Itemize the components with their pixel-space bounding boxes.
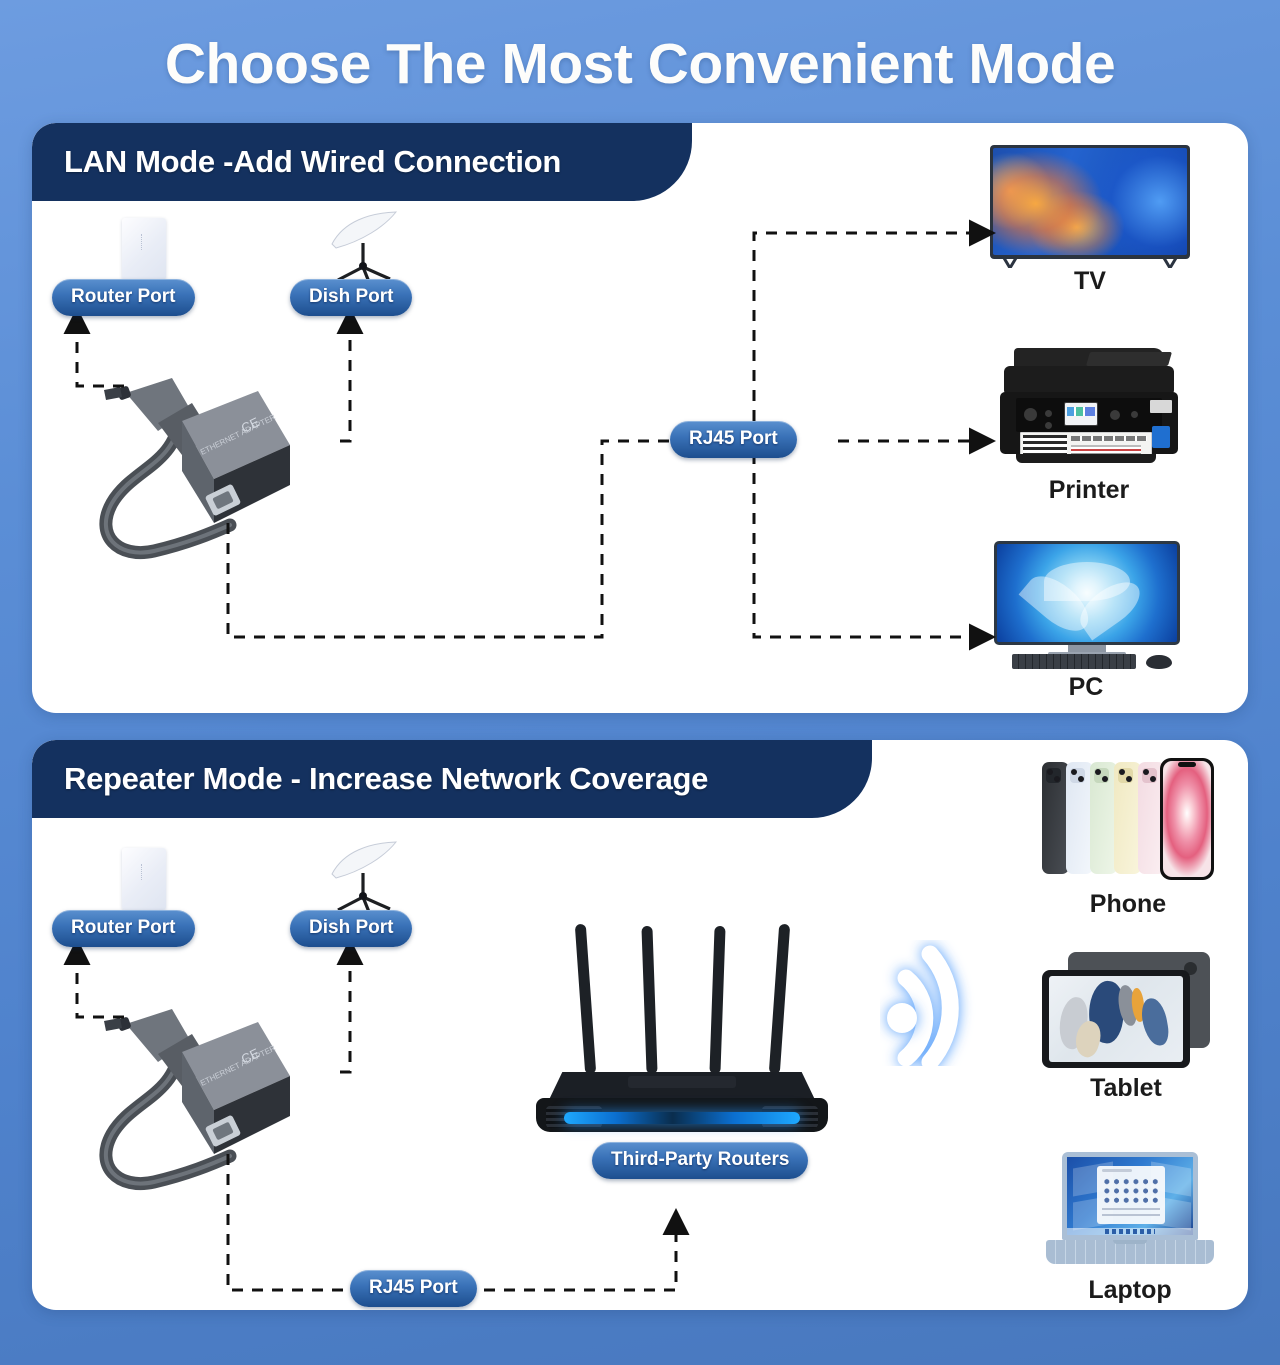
device-third-party-router: Third-Party Routers [532, 920, 832, 1140]
pill-router-port-lan[interactable]: Router Port [52, 279, 195, 316]
caption-phone: Phone [1028, 890, 1228, 919]
panel-lan-mode: LAN Mode -Add Wired Connection [32, 123, 1248, 713]
satellite-dish-icon [322, 211, 412, 283]
ethernet-adapter-icon: ETHERNET ADAPTER CE [62, 1004, 312, 1219]
pill-rj45-port-repeater[interactable]: RJ45 Port [350, 1270, 477, 1307]
printer-icon [1000, 348, 1178, 470]
laptop-icon [1040, 1152, 1220, 1274]
satellite-dish-icon [322, 841, 412, 913]
panel-repeater-mode: Repeater Mode - Increase Network Coverag… [32, 740, 1248, 1310]
device-phone: Phone [1042, 758, 1214, 884]
caption-tv: TV [990, 267, 1190, 296]
smartphone-icon [1042, 758, 1214, 884]
pill-router-port-repeater[interactable]: Router Port [52, 910, 195, 947]
page-title: Choose The Most Convenient Mode [0, 0, 1280, 93]
pill-dish-port-repeater[interactable]: Dish Port [290, 910, 412, 947]
television-icon [990, 145, 1190, 259]
ethernet-adapter-icon: ETHERNET ADAPTER CE [62, 373, 312, 588]
caption-laptop: Laptop [1030, 1276, 1230, 1305]
pill-dish-port-lan[interactable]: Dish Port [290, 279, 412, 316]
device-tablet: Tablet [1042, 952, 1210, 1068]
wall-plate-icon [122, 848, 166, 910]
desktop-computer-icon [994, 541, 1180, 669]
device-tv: TV [990, 145, 1190, 259]
device-laptop: Laptop [1040, 1152, 1220, 1274]
caption-pc: PC [986, 673, 1186, 702]
tablet-icon [1042, 952, 1210, 1068]
caption-tablet: Tablet [1026, 1074, 1226, 1103]
wall-plate-icon [122, 218, 166, 280]
panel-repeater-body: Router Port Dish Port RJ45 Port ETHERNET… [32, 740, 1248, 1310]
device-printer: Printer [1000, 348, 1178, 470]
caption-printer: Printer [985, 476, 1193, 505]
pill-rj45-port-lan[interactable]: RJ45 Port [670, 421, 797, 458]
panel-lan-body: Router Port Dish Port RJ45 Port ETHERNET… [32, 123, 1248, 713]
device-pc: PC [994, 541, 1180, 669]
wifi-signal-icon [880, 940, 1012, 1066]
pill-third-party-routers[interactable]: Third-Party Routers [592, 1142, 808, 1179]
wifi-router-icon [532, 920, 832, 1140]
